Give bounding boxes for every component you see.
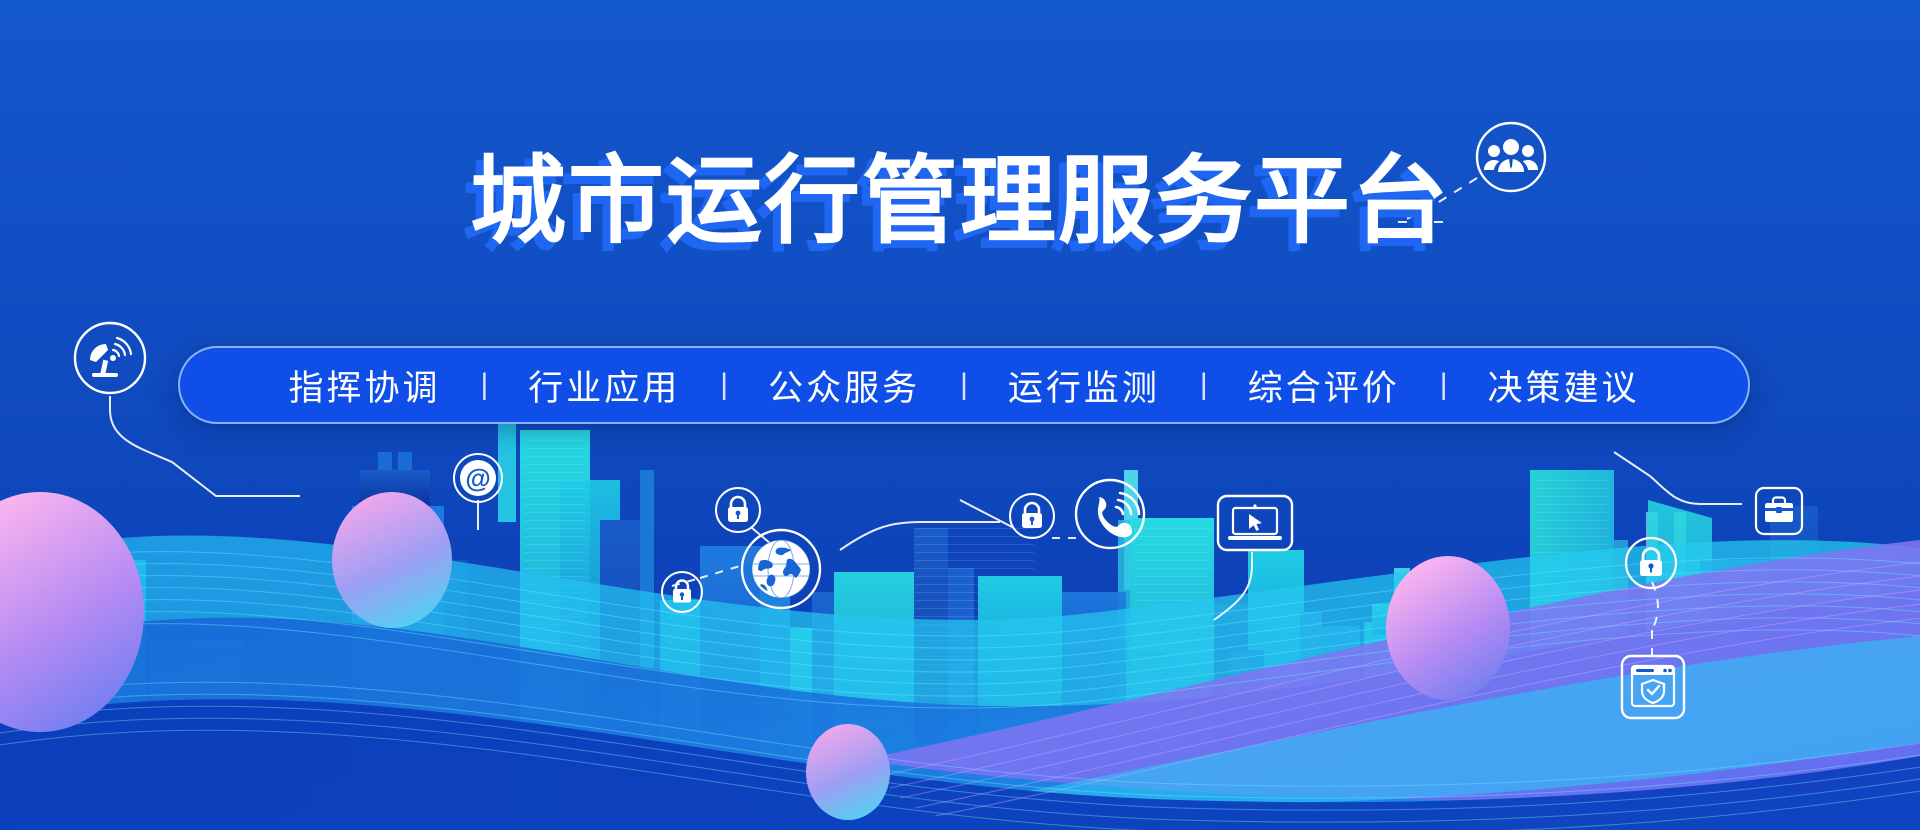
- globe-icon: [740, 528, 822, 610]
- at-sign-icon: @: [452, 452, 504, 504]
- lock-icon-3: [1008, 492, 1056, 540]
- nav-item-0[interactable]: 指挥协调: [248, 360, 480, 411]
- nav-item-1[interactable]: 行业应用: [488, 360, 720, 411]
- nav-item-3[interactable]: 运行监测: [968, 360, 1200, 411]
- nav-item-5[interactable]: 决策建议: [1448, 360, 1680, 411]
- city-platform-banner: 城市运行管理服务平台 指挥协调 | 行业应用 | 公众服务 | 运行监测 | 综…: [0, 0, 1920, 830]
- laptop-cursor-icon: [1216, 494, 1294, 552]
- nav-item-4[interactable]: 综合评价: [1208, 360, 1440, 411]
- nav-separator-4: |: [1440, 368, 1448, 402]
- nav-separator-0: |: [480, 368, 488, 402]
- sphere-right: [1386, 556, 1510, 700]
- lock-icon-1: [714, 486, 762, 534]
- lock-icon-4: [1624, 536, 1678, 590]
- banner-title-container: 城市运行管理服务平台: [0, 150, 1920, 254]
- satellite-dish-icon: [72, 320, 148, 396]
- briefcase-icon: [1754, 486, 1804, 536]
- sphere-center: [806, 724, 890, 820]
- lock-icon-2: [660, 570, 704, 614]
- nav-item-2[interactable]: 公众服务: [728, 360, 960, 411]
- nav-separator-1: |: [720, 368, 728, 402]
- svg-text:@: @: [465, 463, 490, 493]
- browser-shield-icon: [1620, 654, 1686, 720]
- main-navigation[interactable]: 指挥协调 | 行业应用 | 公众服务 | 运行监测 | 综合评价 | 决策建议: [178, 346, 1750, 424]
- phone-signal-icon: [1074, 478, 1146, 550]
- page-title: 城市运行管理服务平台: [470, 150, 1450, 254]
- nav-separator-3: |: [1200, 368, 1208, 402]
- nav-separator-2: |: [960, 368, 968, 402]
